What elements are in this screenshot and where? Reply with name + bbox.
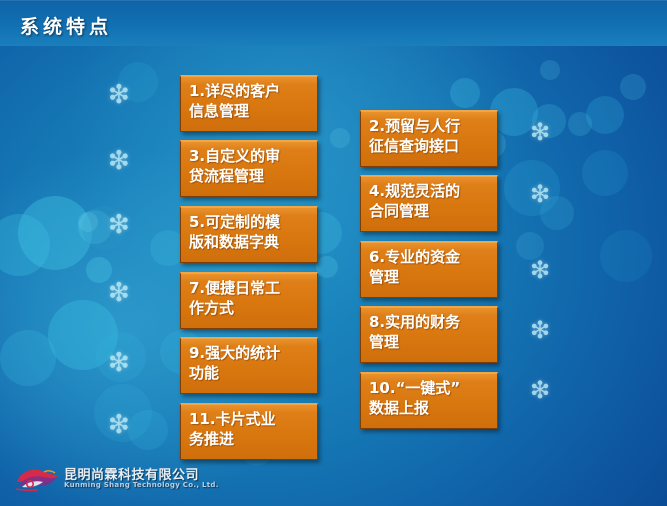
feature-box-8[interactable]: 8.实用的财务 管理 bbox=[360, 306, 498, 363]
snowflake-icon: ❇ bbox=[108, 280, 130, 306]
bokeh-circle bbox=[540, 60, 560, 80]
bokeh-circle bbox=[18, 196, 92, 270]
bokeh-circle bbox=[586, 96, 624, 134]
feature-box-10[interactable]: 10.“一键式” 数据上报 bbox=[360, 372, 498, 429]
bokeh-circle bbox=[94, 384, 152, 442]
snowflake-icon: ❇ bbox=[108, 350, 130, 376]
feature-box-4[interactable]: 4.规范灵活的 合同管理 bbox=[360, 175, 498, 232]
snowflake-icon: ❇ bbox=[108, 148, 130, 174]
logo-company-name-en: Kunming Shang Technology Co., Ltd. bbox=[64, 481, 219, 489]
bokeh-circle bbox=[450, 78, 480, 108]
feature-box-11[interactable]: 11.卡片式业 务推进 bbox=[180, 403, 318, 460]
snowflake-icon: ❇ bbox=[530, 120, 550, 144]
snowflake-icon: ❇ bbox=[530, 378, 550, 402]
feature-box-7[interactable]: 7.便捷日常工 作方式 bbox=[180, 272, 318, 329]
bokeh-circle bbox=[330, 128, 350, 148]
bokeh-circle bbox=[0, 214, 50, 276]
bokeh-circle bbox=[540, 196, 574, 230]
page-title: 系统特点 bbox=[20, 12, 112, 39]
bokeh-circle bbox=[532, 104, 566, 138]
bokeh-circle bbox=[128, 410, 168, 450]
snowflake-icon: ❇ bbox=[108, 82, 130, 108]
snowflake-icon: ❇ bbox=[530, 318, 550, 342]
bokeh-circle bbox=[118, 62, 158, 102]
bokeh-circle bbox=[96, 332, 146, 382]
snowflake-icon: ❇ bbox=[108, 212, 130, 238]
bokeh-circle bbox=[86, 257, 112, 283]
bokeh-circle bbox=[78, 210, 112, 244]
snowflake-icon: ❇ bbox=[108, 412, 130, 438]
feature-box-9[interactable]: 9.强大的统计 功能 bbox=[180, 337, 318, 394]
bokeh-circle bbox=[620, 74, 646, 100]
logo-bird-icon bbox=[14, 463, 60, 495]
feature-box-5[interactable]: 5.可定制的模 版和数据字典 bbox=[180, 206, 318, 263]
feature-box-3[interactable]: 3.自定义的审 贷流程管理 bbox=[180, 140, 318, 197]
snowflake-icon: ❇ bbox=[530, 182, 550, 206]
feature-box-2[interactable]: 2.预留与人行 征信查询接口 bbox=[360, 110, 498, 167]
bokeh-circle bbox=[82, 206, 126, 250]
slide-canvas: ❇ ❇ ❇ ❇ ❇ ❇ ❇ ❇ ❇ ❇ ❇ 系统特点 1.详尽的客户 信息管理 … bbox=[0, 0, 667, 506]
bokeh-circle bbox=[516, 232, 544, 260]
feature-box-6[interactable]: 6.专业的资金 管理 bbox=[360, 241, 498, 298]
bokeh-circle bbox=[316, 256, 338, 278]
company-logo: 昆明尚霖科技有限公司 Kunming Shang Technology Co.,… bbox=[14, 462, 214, 498]
bokeh-circle bbox=[568, 112, 592, 136]
bokeh-circle bbox=[48, 300, 118, 370]
bokeh-circle bbox=[600, 230, 652, 282]
bokeh-circle bbox=[0, 330, 56, 386]
snowflake-icon: ❇ bbox=[530, 258, 550, 282]
bokeh-circle bbox=[504, 160, 560, 216]
feature-box-1[interactable]: 1.详尽的客户 信息管理 bbox=[180, 75, 318, 132]
bokeh-circle bbox=[582, 150, 628, 196]
bokeh-circle bbox=[78, 212, 98, 232]
